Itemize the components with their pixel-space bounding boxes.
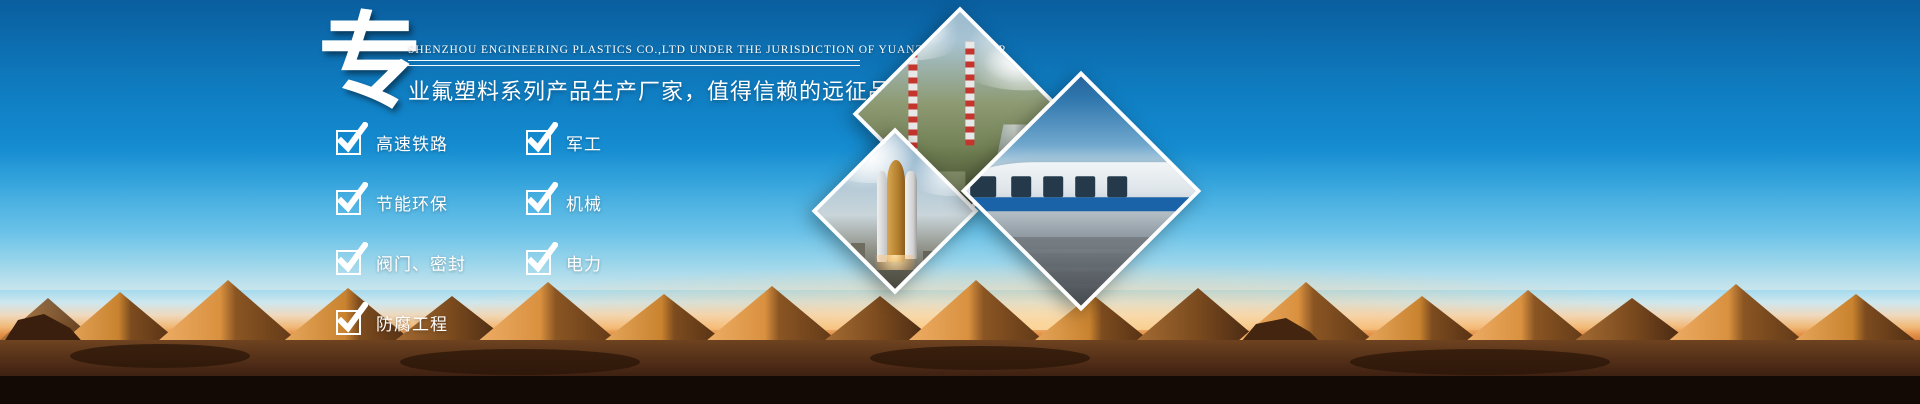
promo-banner: 专 SHENZHOU ENGINEERING PLASTICS CO.,LTD …	[0, 0, 1920, 404]
checkmark-icon	[336, 190, 361, 215]
chinese-slogan: 业氟塑料系列产品生产厂家，值得信赖的远征品牌	[408, 74, 928, 106]
feature-label: 电力	[566, 250, 602, 275]
pyramid-dunes-foreground	[0, 244, 1920, 404]
feature-label: 节能环保	[376, 190, 448, 215]
feature-item: 电力	[526, 243, 602, 281]
checkmark-icon	[526, 130, 551, 155]
feature-item: 阀门、密封	[336, 243, 466, 281]
checkmark-icon	[526, 190, 551, 215]
feature-item: 军工	[526, 123, 602, 161]
brand-glyph: 专	[318, 14, 414, 110]
feature-label: 阀门、密封	[376, 250, 466, 275]
checkmark-icon	[336, 130, 361, 155]
feature-item: 机械	[526, 183, 602, 221]
feature-column-right: 军工 机械 电力	[526, 123, 602, 303]
divider-rule	[408, 60, 860, 66]
feature-item: 高速铁路	[336, 123, 466, 161]
feature-label: 军工	[566, 130, 602, 155]
feature-column-left: 高速铁路 节能环保 阀门、密封 防腐工程	[336, 123, 466, 363]
checkmark-icon	[336, 250, 361, 275]
english-headline: SHENZHOU ENGINEERING PLASTICS CO.,LTD UN…	[408, 44, 928, 56]
checkmark-icon	[336, 310, 361, 335]
feature-label: 机械	[566, 190, 602, 215]
feature-label: 高速铁路	[376, 130, 448, 155]
feature-item: 防腐工程	[336, 303, 466, 341]
feature-label: 防腐工程	[376, 310, 448, 335]
feature-item: 节能环保	[336, 183, 466, 221]
headline-group: SHENZHOU ENGINEERING PLASTICS CO.,LTD UN…	[408, 44, 928, 106]
checkmark-icon	[526, 250, 551, 275]
